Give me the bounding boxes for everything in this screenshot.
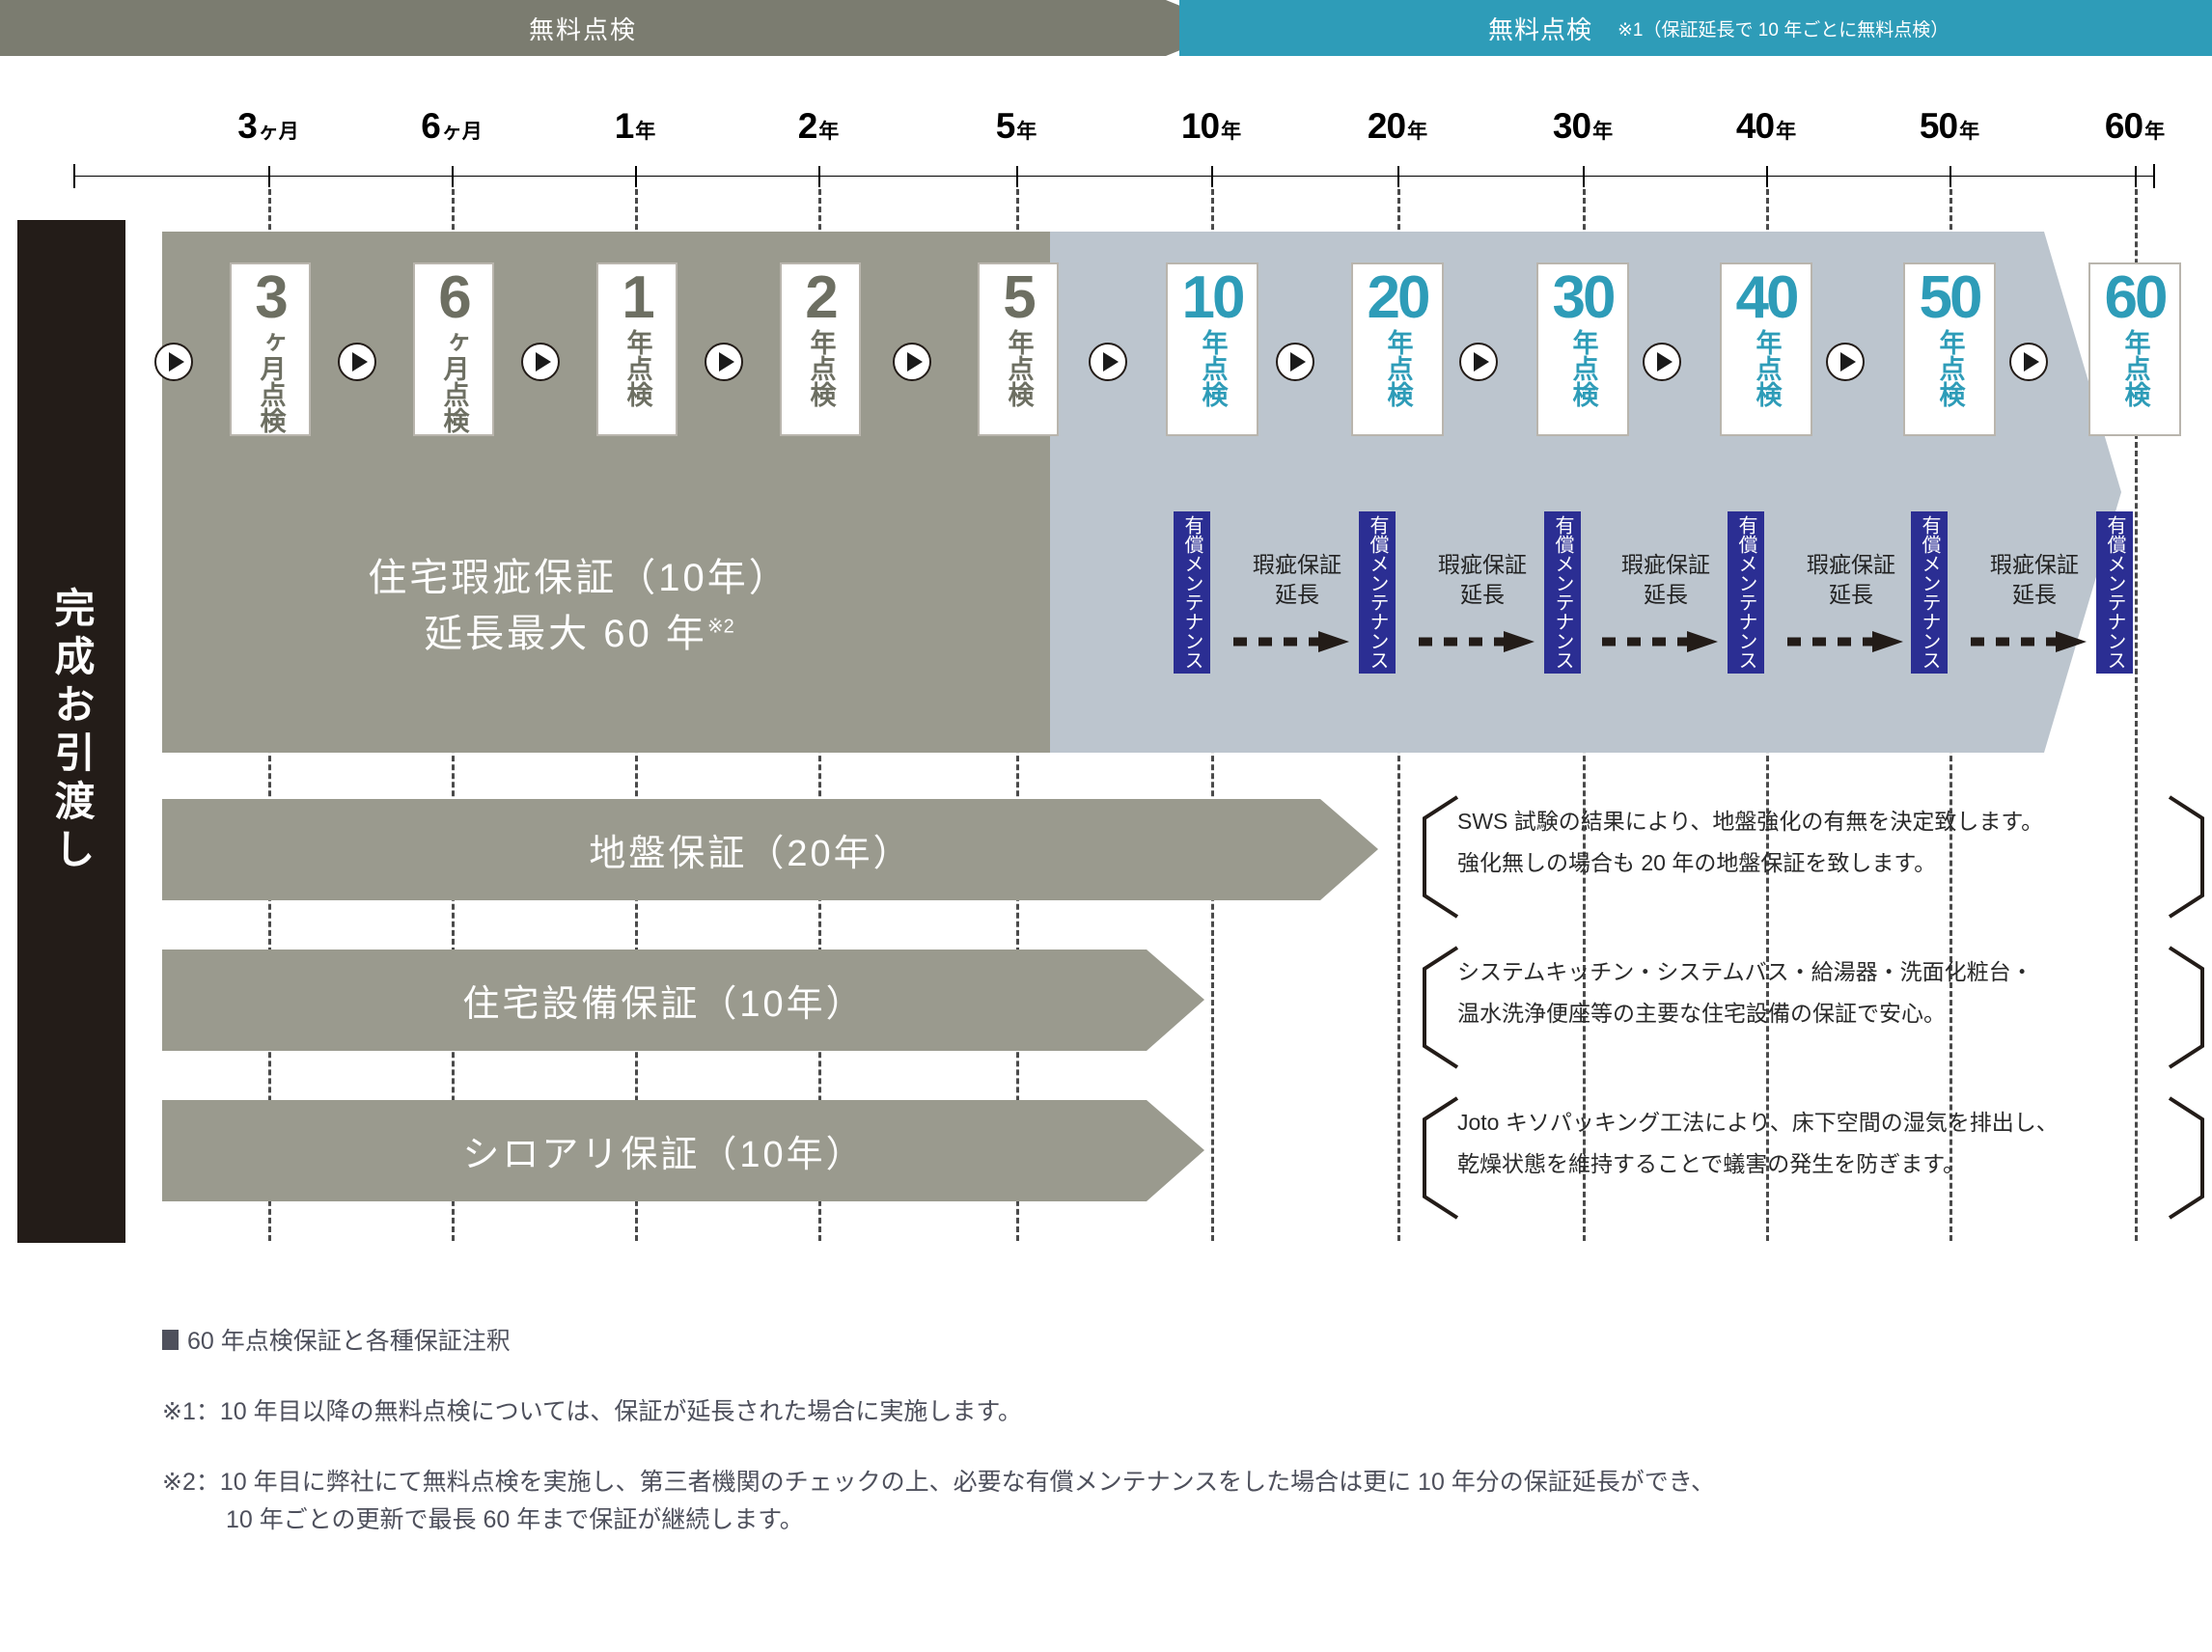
inspection-sublabel: 年点検 <box>1006 329 1032 407</box>
axis-mini-tick <box>1949 166 1951 187</box>
axis-tick-number: 40 <box>1736 106 1774 146</box>
play-arrow-icon <box>1089 343 1127 381</box>
dashed-arrow-icon <box>1411 627 1554 656</box>
axis-tick-label: 2年 <box>798 106 840 147</box>
warranty-extension-label: 瑕疵保証延長 <box>1780 550 1922 610</box>
paid-maintenance-label: 有償メンテナンス <box>2105 515 2124 670</box>
inspection-box: 20年点検 <box>1351 262 1444 436</box>
inspection-number: 1 <box>622 270 651 327</box>
warranty-extension-line2: 延長 <box>1226 580 1369 610</box>
axis-mini-tick <box>1583 166 1585 187</box>
axis-tick-label: 5年 <box>996 106 1037 147</box>
inspection-sublabel: 年点検 <box>1754 329 1780 407</box>
footer-heading: 60 年点検保証と各種保証注釈 <box>187 1322 511 1357</box>
inspection-sublabel: ヶ月点検 <box>258 329 284 433</box>
play-arrow-icon <box>893 343 931 381</box>
play-arrow-icon <box>1826 343 1865 381</box>
axis-tick-number: 20 <box>1368 106 1405 146</box>
play-arrow-icon <box>338 343 376 381</box>
axis-tick-label: 3ヶ月 <box>237 106 299 147</box>
warranty-extension-line2: 延長 <box>1411 580 1554 610</box>
footer-note-2-line1: ※2：10 年目に弊社にて無料点検を実施し、第三者機関のチェックの上、必要な有償… <box>162 1464 2092 1501</box>
inspection-box: 50年点検 <box>1903 262 1996 436</box>
play-arrow-icon <box>2009 343 2048 381</box>
axis-tick-number: 2 <box>798 106 817 146</box>
inspection-box: 1年点検 <box>596 262 677 436</box>
warranty-bar: 地盤保証（20年） <box>162 799 1378 900</box>
main-band-line2-text: 延長最大 60 年 <box>424 613 707 655</box>
triangle-glyph <box>1103 352 1119 372</box>
inspection-box: 10年点検 <box>1166 262 1258 436</box>
axis-tick-unit: 年 <box>818 121 839 143</box>
warranty-timeline-diagram: 無料点検 無料点検 ※1（保証延長で 10 年ごとに無料点検） 3ヶ月6ヶ月1年… <box>0 0 2212 1652</box>
axis-tick-unit: 年 <box>1592 121 1613 143</box>
footer-note-2-line2: 10 年ごとの更新で最長 60 年まで保証が継続します。 <box>162 1501 2092 1539</box>
axis-tick-label: 10年 <box>1181 106 1241 147</box>
callout-box: SWS 試験の結果により、地盤強化の有無を決定致します。強化無しの場合も 20 … <box>1415 793 2212 921</box>
banner-right-note: ※1（保証延長で 10 年ごとに無料点検） <box>1618 15 1949 41</box>
inspection-box: 6ヶ月点検 <box>413 262 494 436</box>
axis-mini-tick <box>1016 166 1018 187</box>
axis-tick-unit: 年 <box>1016 121 1037 143</box>
inspection-box: 3ヶ月点検 <box>230 262 311 436</box>
paid-maintenance-label: 有償メンテナンス <box>1368 515 1387 670</box>
play-arrow-icon <box>1459 343 1498 381</box>
axis-tick-unit: 年 <box>1407 121 1427 143</box>
triangle-glyph <box>2024 352 2039 372</box>
square-bullet-icon <box>162 1330 179 1350</box>
inspection-sublabel: 年点検 <box>624 329 650 407</box>
callout-line-2: 乾燥状態を維持することで蟻害の発生を防ぎます。 <box>1457 1143 2191 1185</box>
inspection-box: 2年点検 <box>780 262 861 436</box>
warranty-extension-line2: 延長 <box>1780 580 1922 610</box>
warranty-bar: 住宅設備保証（10年） <box>162 950 1204 1051</box>
warranty-extension-line2: 延長 <box>1594 580 1737 610</box>
inspection-sublabel: 年点検 <box>808 329 834 407</box>
main-band-footnote-marker: ※2 <box>707 617 734 638</box>
axis-mini-tick <box>635 166 637 187</box>
callout-line-1: SWS 試験の結果により、地盤強化の有無を決定致します。 <box>1457 801 2191 842</box>
callout-line-1: システムキッチン・システムバス・給湯器・洗面化粧台・ <box>1457 951 2191 993</box>
banner-right-label: 無料点検 <box>1488 11 1592 46</box>
axis-tick-unit: 年 <box>635 121 655 143</box>
axis-mini-tick <box>452 166 454 187</box>
callout-box: Joto キソパッキング工法により、床下空間の湿気を排出し、乾燥状態を維持するこ… <box>1415 1094 2212 1222</box>
inspection-sublabel: 年点検 <box>2122 329 2148 407</box>
callout-text: Joto キソパッキング工法により、床下空間の湿気を排出し、乾燥状態を維持するこ… <box>1457 1102 2191 1184</box>
axis-mini-tick <box>1211 166 1213 187</box>
warranty-bar-label: 地盤保証（20年） <box>589 823 912 876</box>
inspection-number: 2 <box>805 270 835 327</box>
axis-tick-number: 50 <box>1920 106 1957 146</box>
axis-tick-label: 50年 <box>1920 106 1979 147</box>
axis-tick-unit: 年 <box>1221 121 1241 143</box>
axis-tick-label: 20年 <box>1368 106 1427 147</box>
paid-maintenance-label: 有償メンテナンス <box>1553 515 1572 670</box>
main-band-line2: 延長最大 60 年※2 <box>193 606 965 662</box>
timeline-axis-line <box>73 176 2155 177</box>
play-arrow-icon <box>521 343 560 381</box>
inspection-number: 50 <box>1920 270 1980 327</box>
main-band-caption: 住宅瑕疵保証（10年） 延長最大 60 年※2 <box>193 550 965 662</box>
dashed-arrow-icon <box>1594 627 1737 656</box>
inspection-sublabel: ヶ月点検 <box>441 329 467 433</box>
paid-maintenance-label: 有償メンテナンス <box>1182 515 1202 670</box>
warranty-bar-label: シロアリ保証（10年） <box>462 1124 865 1177</box>
callout-line-2: 強化無しの場合も 20 年の地盤保証を致します。 <box>1457 842 2191 884</box>
dashed-arrow-icon <box>1780 627 1922 656</box>
play-arrow-icon <box>1643 343 1681 381</box>
axis-mini-tick <box>2135 166 2137 187</box>
inspection-number: 30 <box>1553 270 1614 327</box>
inspection-number: 6 <box>438 270 468 327</box>
axis-tick-label: 60年 <box>2105 106 2165 147</box>
axis-tick-unit: ヶ月 <box>442 121 483 143</box>
axis-tick-label: 30年 <box>1553 106 1613 147</box>
handover-label: 完成お引渡し <box>51 587 92 876</box>
warranty-extension-line2: 延長 <box>1963 580 2106 610</box>
callout-line-1: Joto キソパッキング工法により、床下空間の湿気を排出し、 <box>1457 1102 2191 1143</box>
banner-right-group: 無料点検 ※1（保証延長で 10 年ごとに無料点検） <box>1179 0 2212 56</box>
paid-maintenance-label: 有償メンテナンス <box>1920 515 1939 670</box>
axis-left-cap <box>73 164 75 188</box>
axis-tick-number: 60 <box>2105 106 2143 146</box>
axis-mini-tick <box>268 166 270 187</box>
warranty-extension-line1: 瑕疵保証 <box>1780 550 1922 580</box>
play-arrow-icon <box>154 343 193 381</box>
warranty-bar: シロアリ保証（10年） <box>162 1100 1204 1201</box>
paid-maintenance-box: 有償メンテナンス <box>1174 511 1210 674</box>
axis-tick-unit: 年 <box>1776 121 1796 143</box>
axis-tick-unit: ヶ月 <box>259 121 299 143</box>
axis-tick-number: 3 <box>237 106 257 146</box>
triangle-glyph <box>536 352 551 372</box>
axis-tick-unit: 年 <box>2144 121 2165 143</box>
warranty-extension-label: 瑕疵保証延長 <box>1411 550 1554 610</box>
axis-mini-tick <box>1766 166 1768 187</box>
inspection-number: 3 <box>255 270 285 327</box>
dashed-arrow-icon <box>1963 627 2106 656</box>
inspection-number: 60 <box>2105 270 2166 327</box>
axis-tick-number: 10 <box>1181 106 1219 146</box>
axis-tick-number: 1 <box>615 106 634 146</box>
warranty-extension-line1: 瑕疵保証 <box>1594 550 1737 580</box>
triangle-glyph <box>169 352 184 372</box>
triangle-glyph <box>1290 352 1306 372</box>
callout-line-2: 温水洗浄便座等の主要な住宅設備の保証で安心。 <box>1457 993 2191 1034</box>
axis-tick-unit: 年 <box>1959 121 1979 143</box>
warranty-extension-label: 瑕疵保証延長 <box>1963 550 2106 610</box>
paid-maintenance-label: 有償メンテナンス <box>1736 515 1756 670</box>
axis-tick-number: 30 <box>1553 106 1590 146</box>
axis-tick-label: 1年 <box>615 106 656 147</box>
triangle-glyph <box>1840 352 1856 372</box>
triangle-glyph <box>1474 352 1489 372</box>
main-band-line1: 住宅瑕疵保証（10年） <box>193 550 965 606</box>
inspection-box: 30年点検 <box>1536 262 1629 436</box>
warranty-extension-label: 瑕疵保証延長 <box>1594 550 1737 610</box>
play-arrow-icon <box>1276 343 1314 381</box>
banner-left-label: 無料点検 <box>0 0 1166 56</box>
axis-mini-tick <box>818 166 820 187</box>
inspection-box: 40年点検 <box>1720 262 1812 436</box>
inspection-sublabel: 年点検 <box>1200 329 1226 407</box>
triangle-glyph <box>352 352 368 372</box>
inspection-sublabel: 年点検 <box>1570 329 1596 407</box>
warranty-extension-line1: 瑕疵保証 <box>1226 550 1369 580</box>
callout-text: システムキッチン・システムバス・給湯器・洗面化粧台・温水洗浄便座等の主要な住宅設… <box>1457 951 2191 1033</box>
warranty-bar-label: 住宅設備保証（10年） <box>462 974 865 1027</box>
footer-notes: 60 年点検保証と各種保証注釈 ※1：10 年目以降の無料点検については、保証が… <box>162 1322 2092 1571</box>
inspection-sublabel: 年点検 <box>1385 329 1411 407</box>
inspection-box: 60年点検 <box>2088 262 2181 436</box>
axis-tick-label: 6ヶ月 <box>421 106 483 147</box>
warranty-extension-line1: 瑕疵保証 <box>1411 550 1554 580</box>
callout-box: システムキッチン・システムバス・給湯器・洗面化粧台・温水洗浄便座等の主要な住宅設… <box>1415 944 2212 1071</box>
inspection-box: 5年点検 <box>978 262 1059 436</box>
inspection-number: 40 <box>1736 270 1797 327</box>
handover-bar: 完成お引渡し <box>17 220 125 1243</box>
triangle-glyph <box>719 352 734 372</box>
axis-tick-number: 6 <box>421 106 440 146</box>
callout-text: SWS 試験の結果により、地盤強化の有無を決定致します。強化無しの場合も 20 … <box>1457 801 2191 883</box>
inspection-number: 20 <box>1368 270 1428 327</box>
triangle-glyph <box>1657 352 1673 372</box>
axis-right-cap <box>2153 164 2155 188</box>
axis-tick-label: 40年 <box>1736 106 1796 147</box>
warranty-extension-label: 瑕疵保証延長 <box>1226 550 1369 610</box>
dashed-arrow-icon <box>1226 627 1369 656</box>
axis-mini-tick <box>1397 166 1399 187</box>
play-arrow-icon <box>705 343 743 381</box>
inspection-sublabel: 年点検 <box>1937 329 1963 407</box>
footer-note-1: ※1：10 年目以降の無料点検については、保証が延長された場合に実施します。 <box>162 1393 2092 1431</box>
inspection-number: 10 <box>1182 270 1243 327</box>
triangle-glyph <box>907 352 923 372</box>
warranty-extension-line1: 瑕疵保証 <box>1963 550 2106 580</box>
footer-heading-row: 60 年点検保証と各種保証注釈 <box>162 1322 2092 1357</box>
axis-tick-labels: 3ヶ月6ヶ月1年2年5年10年20年30年40年50年60年 <box>0 106 2212 154</box>
inspection-number: 5 <box>1003 270 1033 327</box>
top-banner: 無料点検 無料点検 ※1（保証延長で 10 年ごとに無料点検） <box>0 0 2212 56</box>
axis-tick-number: 5 <box>996 106 1015 146</box>
